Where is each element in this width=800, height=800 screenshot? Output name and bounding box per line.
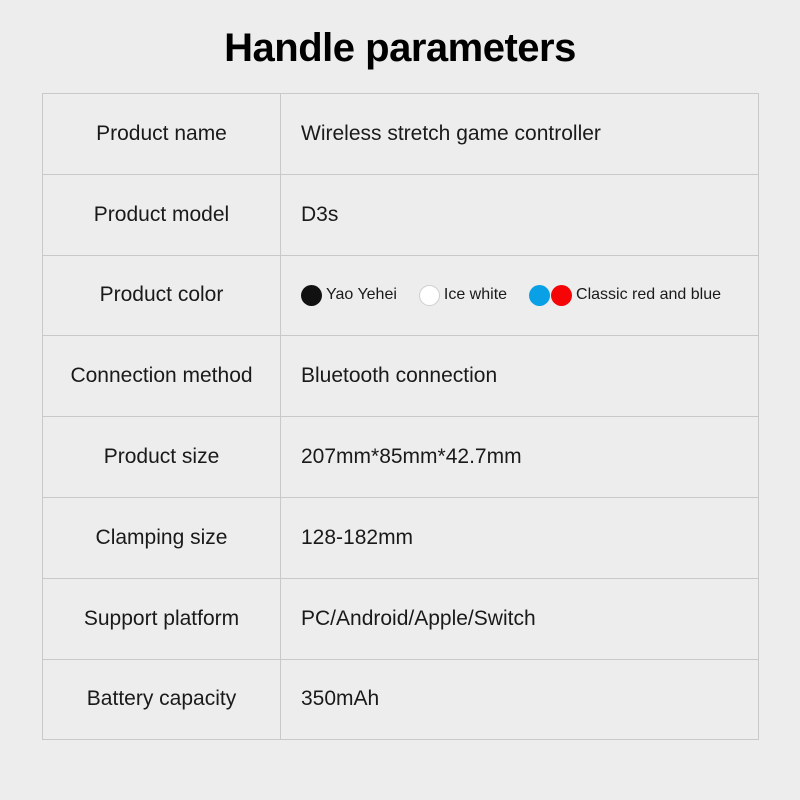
parameter-label-cell: Product size xyxy=(43,417,281,498)
parameter-value-text: 207mm*85mm*42.7mm xyxy=(301,445,522,468)
color-option[interactable]: Ice white xyxy=(419,285,507,306)
color-swatch-group xyxy=(529,285,572,306)
color-option-label: Ice white xyxy=(444,286,507,304)
table-row: Connection methodBluetooth connection xyxy=(43,336,759,417)
parameter-value-cell: Wireless stretch game controller xyxy=(281,94,759,175)
swatch-white-icon xyxy=(419,285,440,306)
parameter-value-cell: 350mAh xyxy=(281,659,759,740)
parameter-label-cell: Clamping size xyxy=(43,497,281,578)
color-option-label: Classic red and blue xyxy=(576,286,721,304)
parameter-value-cell: 207mm*85mm*42.7mm xyxy=(281,417,759,498)
table-row: Product nameWireless stretch game contro… xyxy=(43,94,759,175)
swatch-blue-icon xyxy=(529,285,550,306)
parameter-value-text: Bluetooth connection xyxy=(301,364,497,387)
color-option-list: Yao YeheiIce whiteClassic red and blue xyxy=(301,285,758,306)
parameter-label-cell: Support platform xyxy=(43,578,281,659)
parameter-label-cell: Connection method xyxy=(43,336,281,417)
color-option[interactable]: Classic red and blue xyxy=(529,285,721,306)
table-row: Product colorYao YeheiIce whiteClassic r… xyxy=(43,255,759,336)
parameter-value-cell: PC/Android/Apple/Switch xyxy=(281,578,759,659)
parameter-value-text: PC/Android/Apple/Switch xyxy=(301,607,536,630)
color-option[interactable]: Yao Yehei xyxy=(301,285,397,306)
swatch-black-icon xyxy=(301,285,322,306)
parameter-value-text: Wireless stretch game controller xyxy=(301,122,601,145)
handle-parameters-table: Product nameWireless stretch game contro… xyxy=(42,93,759,740)
table-row: Clamping size128-182mm xyxy=(43,497,759,578)
table-row: Product modelD3s xyxy=(43,174,759,255)
table-row: Support platformPC/Android/Apple/Switch xyxy=(43,578,759,659)
table-body: Product nameWireless stretch game contro… xyxy=(43,94,759,740)
table-row: Product size207mm*85mm*42.7mm xyxy=(43,417,759,498)
parameter-value-cell: 128-182mm xyxy=(281,497,759,578)
parameter-value-text: D3s xyxy=(301,203,338,226)
parameter-label-cell: Product model xyxy=(43,174,281,255)
color-swatch-group xyxy=(419,285,440,306)
swatch-red-icon xyxy=(551,285,572,306)
color-option-label: Yao Yehei xyxy=(326,286,397,304)
table-row: Battery capacity350mAh xyxy=(43,659,759,740)
parameter-label-cell: Product color xyxy=(43,255,281,336)
parameter-label-cell: Battery capacity xyxy=(43,659,281,740)
parameter-value-cell: Bluetooth connection xyxy=(281,336,759,417)
parameter-value-cell: D3s xyxy=(281,174,759,255)
parameter-label-cell: Product name xyxy=(43,94,281,175)
parameter-value-text: 350mAh xyxy=(301,687,379,710)
parameter-value-text: 128-182mm xyxy=(301,526,413,549)
page-title: Handle parameters xyxy=(0,24,800,72)
color-swatch-group xyxy=(301,285,322,306)
spec-sheet-page: Handle parameters Product nameWireless s… xyxy=(0,0,800,800)
parameter-value-cell: Yao YeheiIce whiteClassic red and blue xyxy=(281,255,759,336)
